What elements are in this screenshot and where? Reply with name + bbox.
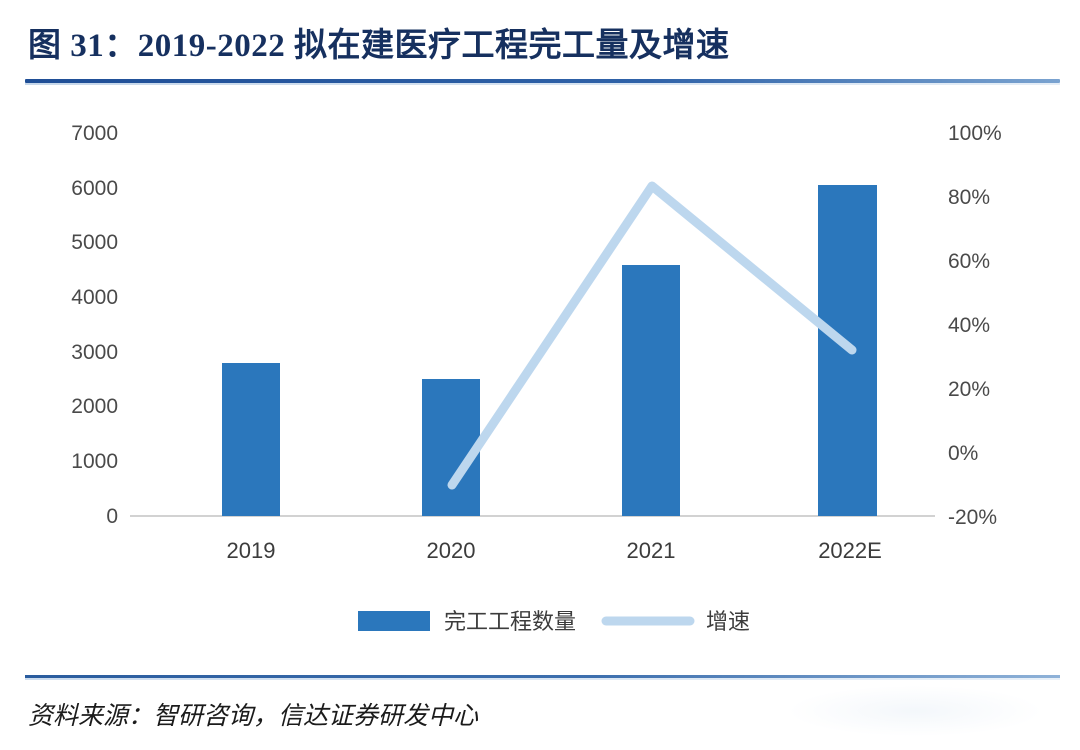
bar-2020[interactable] — [422, 379, 480, 516]
x-axis-category-labels: 2019 2020 2021 2022E — [227, 538, 882, 563]
bar-2019[interactable] — [222, 363, 280, 516]
x-tick-label: 2019 — [227, 538, 276, 563]
y-tick-label: 4000 — [71, 286, 118, 309]
x-tick-label: 2022E — [818, 538, 882, 563]
bar-series — [222, 185, 877, 516]
y-tick-label: 3000 — [71, 341, 118, 364]
bar-2021[interactable] — [622, 265, 680, 516]
y-tick-label: 5000 — [71, 231, 118, 254]
y2-tick-label: -20% — [948, 506, 997, 529]
combo-chart: 7000 6000 5000 4000 3000 2000 1000 0 100… — [0, 88, 1080, 658]
page-title: 图 31：2019-2022 拟在建医疗工程完工量及增速 — [28, 18, 730, 66]
y-tick-label: 2000 — [71, 395, 118, 418]
x-tick-label: 2020 — [427, 538, 476, 563]
chart-header: 图 31：2019-2022 拟在建医疗工程完工量及增速 — [0, 0, 1080, 88]
legend-item-bar[interactable]: 完工工程数量 — [358, 610, 576, 635]
y2-tick-label: 0% — [948, 442, 978, 465]
source-note: 资料来源：智研咨询，信达证券研发中心 — [28, 696, 478, 732]
watermark — [790, 686, 1040, 736]
y-tick-label: 6000 — [71, 177, 118, 200]
legend-item-line[interactable]: 增速 — [606, 610, 750, 635]
y2-tick-label: 40% — [948, 314, 990, 337]
y-axis-right-ticks: 100% 80% 60% 40% 20% 0% -20% — [948, 122, 1002, 529]
chart-plot-area: 7000 6000 5000 4000 3000 2000 1000 0 100… — [0, 88, 1080, 658]
y2-tick-label: 60% — [948, 250, 990, 273]
footer-divider-shadow — [25, 678, 1060, 680]
header-divider-shadow — [25, 83, 1060, 85]
x-tick-label: 2021 — [627, 538, 676, 563]
y-axis-left-ticks: 7000 6000 5000 4000 3000 2000 1000 0 — [71, 122, 118, 528]
y2-tick-label: 20% — [948, 378, 990, 401]
chart-legend: 完工工程数量 增速 — [358, 610, 750, 635]
y-tick-label: 0 — [106, 505, 118, 528]
legend-bar-swatch-icon — [358, 611, 430, 631]
y-tick-label: 1000 — [71, 450, 118, 473]
legend-item-label: 增速 — [706, 610, 750, 635]
chart-footer: 资料来源：智研咨询，信达证券研发中心 — [0, 658, 1080, 750]
y2-tick-label: 80% — [948, 186, 990, 209]
y2-tick-label: 100% — [948, 122, 1002, 145]
legend-item-label: 完工工程数量 — [444, 610, 576, 635]
y-tick-label: 7000 — [71, 122, 118, 145]
